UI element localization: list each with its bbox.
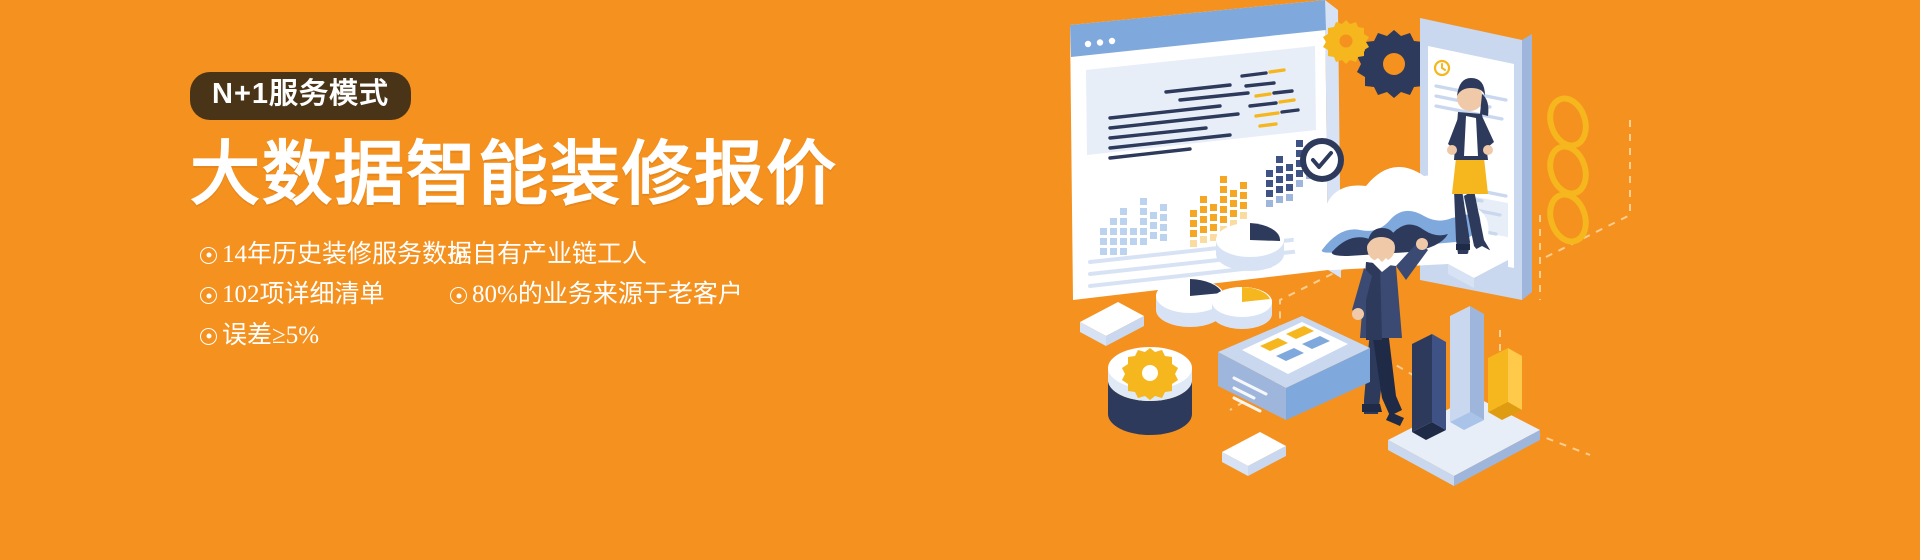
service-model-badge: N+1服务模式 [190, 72, 411, 120]
page-title: 大数据智能装修报价 [190, 136, 870, 213]
promo-banner: N+1服务模式 大数据智能装修报价 14年历史装修服务数据 102项详细清单 误… [0, 0, 1920, 560]
check-badge-icon [1300, 138, 1344, 182]
torus-rings [1544, 94, 1591, 246]
circled-dot-icon [200, 287, 217, 304]
bar-navy [1412, 334, 1446, 440]
isometric-illustration [1070, 0, 1920, 560]
bar-light-blue [1450, 306, 1484, 430]
bar-chart-3d [1388, 306, 1540, 486]
bar-yellow [1488, 348, 1522, 420]
list-item: 自有产业链工人 [450, 235, 743, 276]
list-item-label: 80%的业务来源于老客户 [472, 275, 743, 316]
gear-large-icon [1357, 30, 1431, 98]
list-item: 102项详细清单 [200, 275, 472, 316]
list-item: 误差≥5% [200, 316, 472, 357]
circled-dot-icon [200, 247, 217, 264]
circled-dot-icon [200, 328, 217, 345]
list-item-label: 自有产业链工人 [472, 235, 647, 276]
list-item: 80%的业务来源于老客户 [450, 275, 743, 316]
list-item-label: 14年历史装修服务数据 [222, 235, 472, 276]
list-item-label: 102项详细清单 [222, 275, 385, 316]
circled-dot-icon [450, 287, 467, 304]
bullet-column-right: 自有产业链工人 80%的业务来源于老客户 [450, 235, 743, 316]
list-item: 14年历史装修服务数据 [200, 235, 472, 276]
banner-text-block: N+1服务模式 大数据智能装修报价 14年历史装修服务数据 102项详细清单 误… [190, 72, 870, 235]
circled-dot-icon [450, 247, 467, 264]
list-item-label: 误差≥5% [222, 316, 319, 357]
bullet-column-left: 14年历史装修服务数据 102项详细清单 误差≥5% [200, 235, 472, 357]
